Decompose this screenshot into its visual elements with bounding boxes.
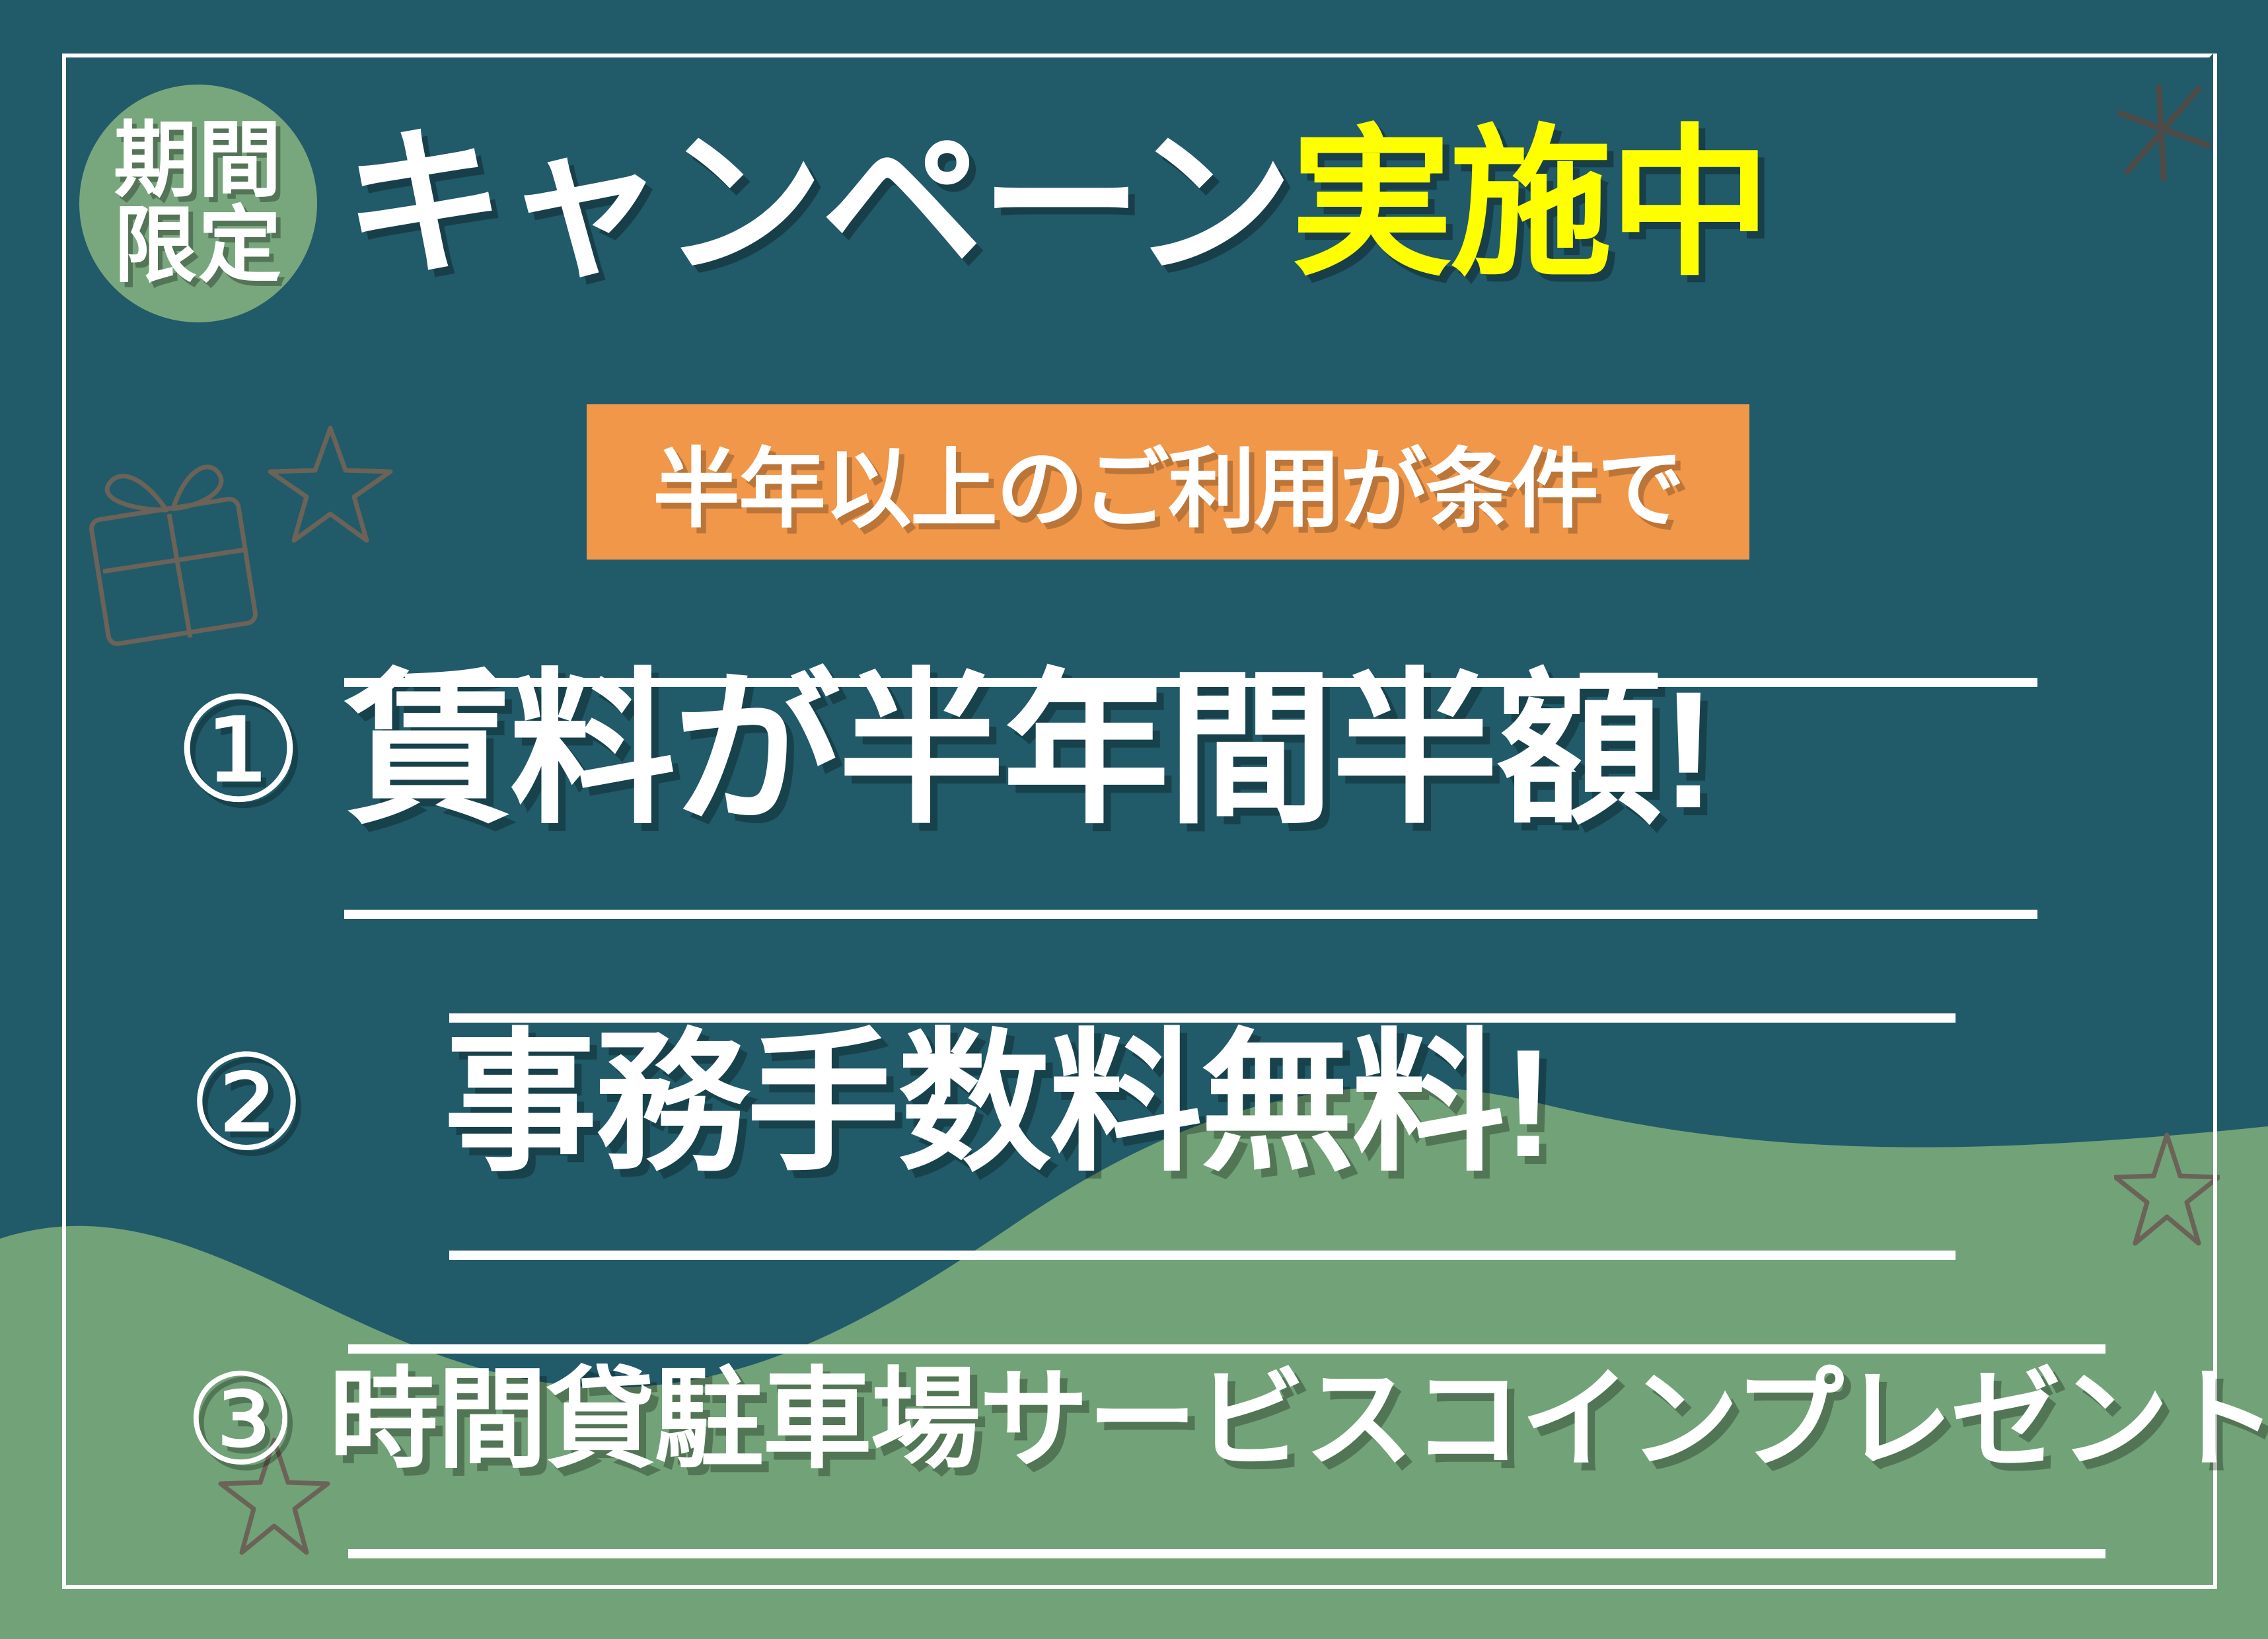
page-title: キャンペーン 実施中 bbox=[344, 123, 1769, 285]
limited-period-badge: 期間 限定 bbox=[79, 85, 317, 322]
star-doodle-left bbox=[268, 423, 393, 548]
benefit-item-2: ② 事務手数料無料! bbox=[164, 1027, 1552, 1181]
condition-banner: 半年以上のご利用が条件で bbox=[587, 404, 1749, 560]
poster-frame-bottom-edge bbox=[62, 1585, 2217, 1589]
campaign-poster: 期間 限定 キャンペーン 実施中 半年以上のご利用が条件で ① 賃料が半年間半額… bbox=[0, 0, 2268, 1639]
benefit-2-rule-bottom bbox=[449, 1251, 1956, 1260]
benefit-1-text: 賃料が半年間半額! bbox=[345, 667, 1714, 834]
benefit-1-number: ① bbox=[156, 678, 321, 823]
benefit-item-3: ③ 時間貸駐車場サービスコインプレゼント! bbox=[161, 1358, 2268, 1483]
benefit-1-rule-top bbox=[344, 678, 2037, 687]
badge-line-1: 期間 bbox=[114, 118, 283, 203]
condition-banner-text: 半年以上のご利用が条件で bbox=[653, 419, 1683, 545]
benefit-3-text: 時間貸駐車場サービスコインプレゼント! bbox=[329, 1366, 2268, 1475]
sparkle-doodle-top-right bbox=[2114, 79, 2213, 185]
benefit-2-text: 事務手数料無料! bbox=[444, 1027, 1552, 1181]
headline-row: 期間 限定 キャンペーン 実施中 bbox=[79, 85, 1769, 322]
benefit-1-rule-bottom bbox=[344, 910, 2037, 919]
benefit-2-number: ② bbox=[164, 1038, 329, 1170]
benefit-2-rule-top bbox=[449, 1013, 1956, 1023]
headline-white-text: キャンペーン bbox=[344, 123, 1291, 285]
star-doodle-right bbox=[2114, 1130, 2220, 1249]
benefit-item-1: ① 賃料が半年間半額! bbox=[156, 667, 1714, 834]
gift-box-doodle bbox=[79, 436, 277, 654]
badge-line-2: 限定 bbox=[114, 203, 283, 289]
benefit-3-rule-top bbox=[348, 1344, 2105, 1354]
benefit-3-rule-bottom bbox=[348, 1549, 2105, 1558]
benefit-3-number: ③ bbox=[161, 1358, 320, 1483]
headline-yellow-text: 実施中 bbox=[1291, 123, 1769, 285]
